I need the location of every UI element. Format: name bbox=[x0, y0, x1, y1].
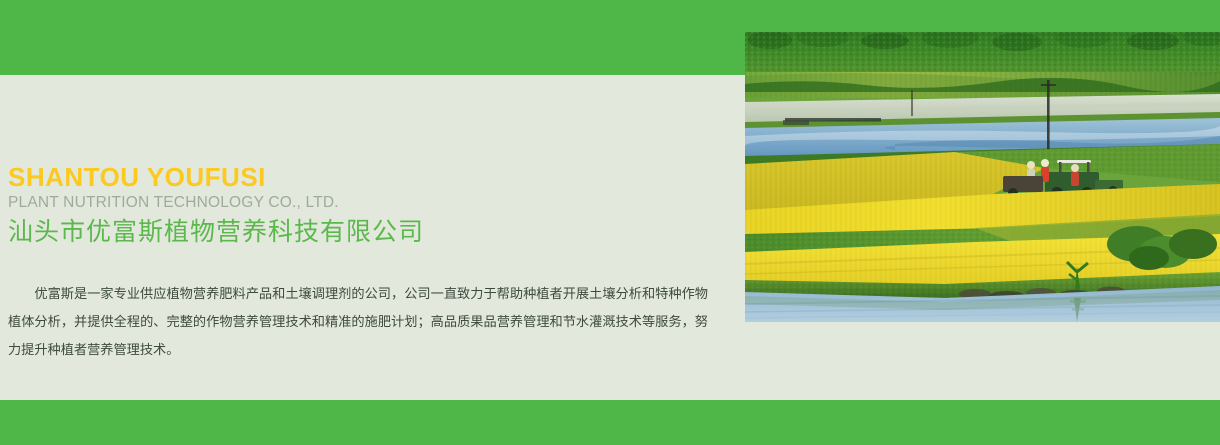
brand-block: SHANTOU YOUFUSI PLANT NUTRITION TECHNOLO… bbox=[8, 163, 708, 247]
bottom-green-band bbox=[0, 400, 1220, 445]
company-profile-page: SHANTOU YOUFUSI PLANT NUTRITION TECHNOLO… bbox=[0, 0, 1220, 445]
rice-paddy-field-photo bbox=[745, 32, 1220, 322]
farm-landscape-illustration bbox=[745, 32, 1220, 322]
company-name-chinese: 汕头市优富斯植物营养科技有限公司 bbox=[8, 217, 708, 247]
company-introduction-paragraph: 优富斯是一家专业供应植物营养肥料产品和土壤调理剂的公司，公司一直致力于帮助种植者… bbox=[8, 280, 708, 364]
company-tagline-english: PLANT NUTRITION TECHNOLOGY CO., LTD. bbox=[8, 194, 708, 212]
company-name-english: SHANTOU YOUFUSI bbox=[8, 163, 708, 192]
company-info-section: SHANTOU YOUFUSI PLANT NUTRITION TECHNOLO… bbox=[0, 75, 745, 400]
